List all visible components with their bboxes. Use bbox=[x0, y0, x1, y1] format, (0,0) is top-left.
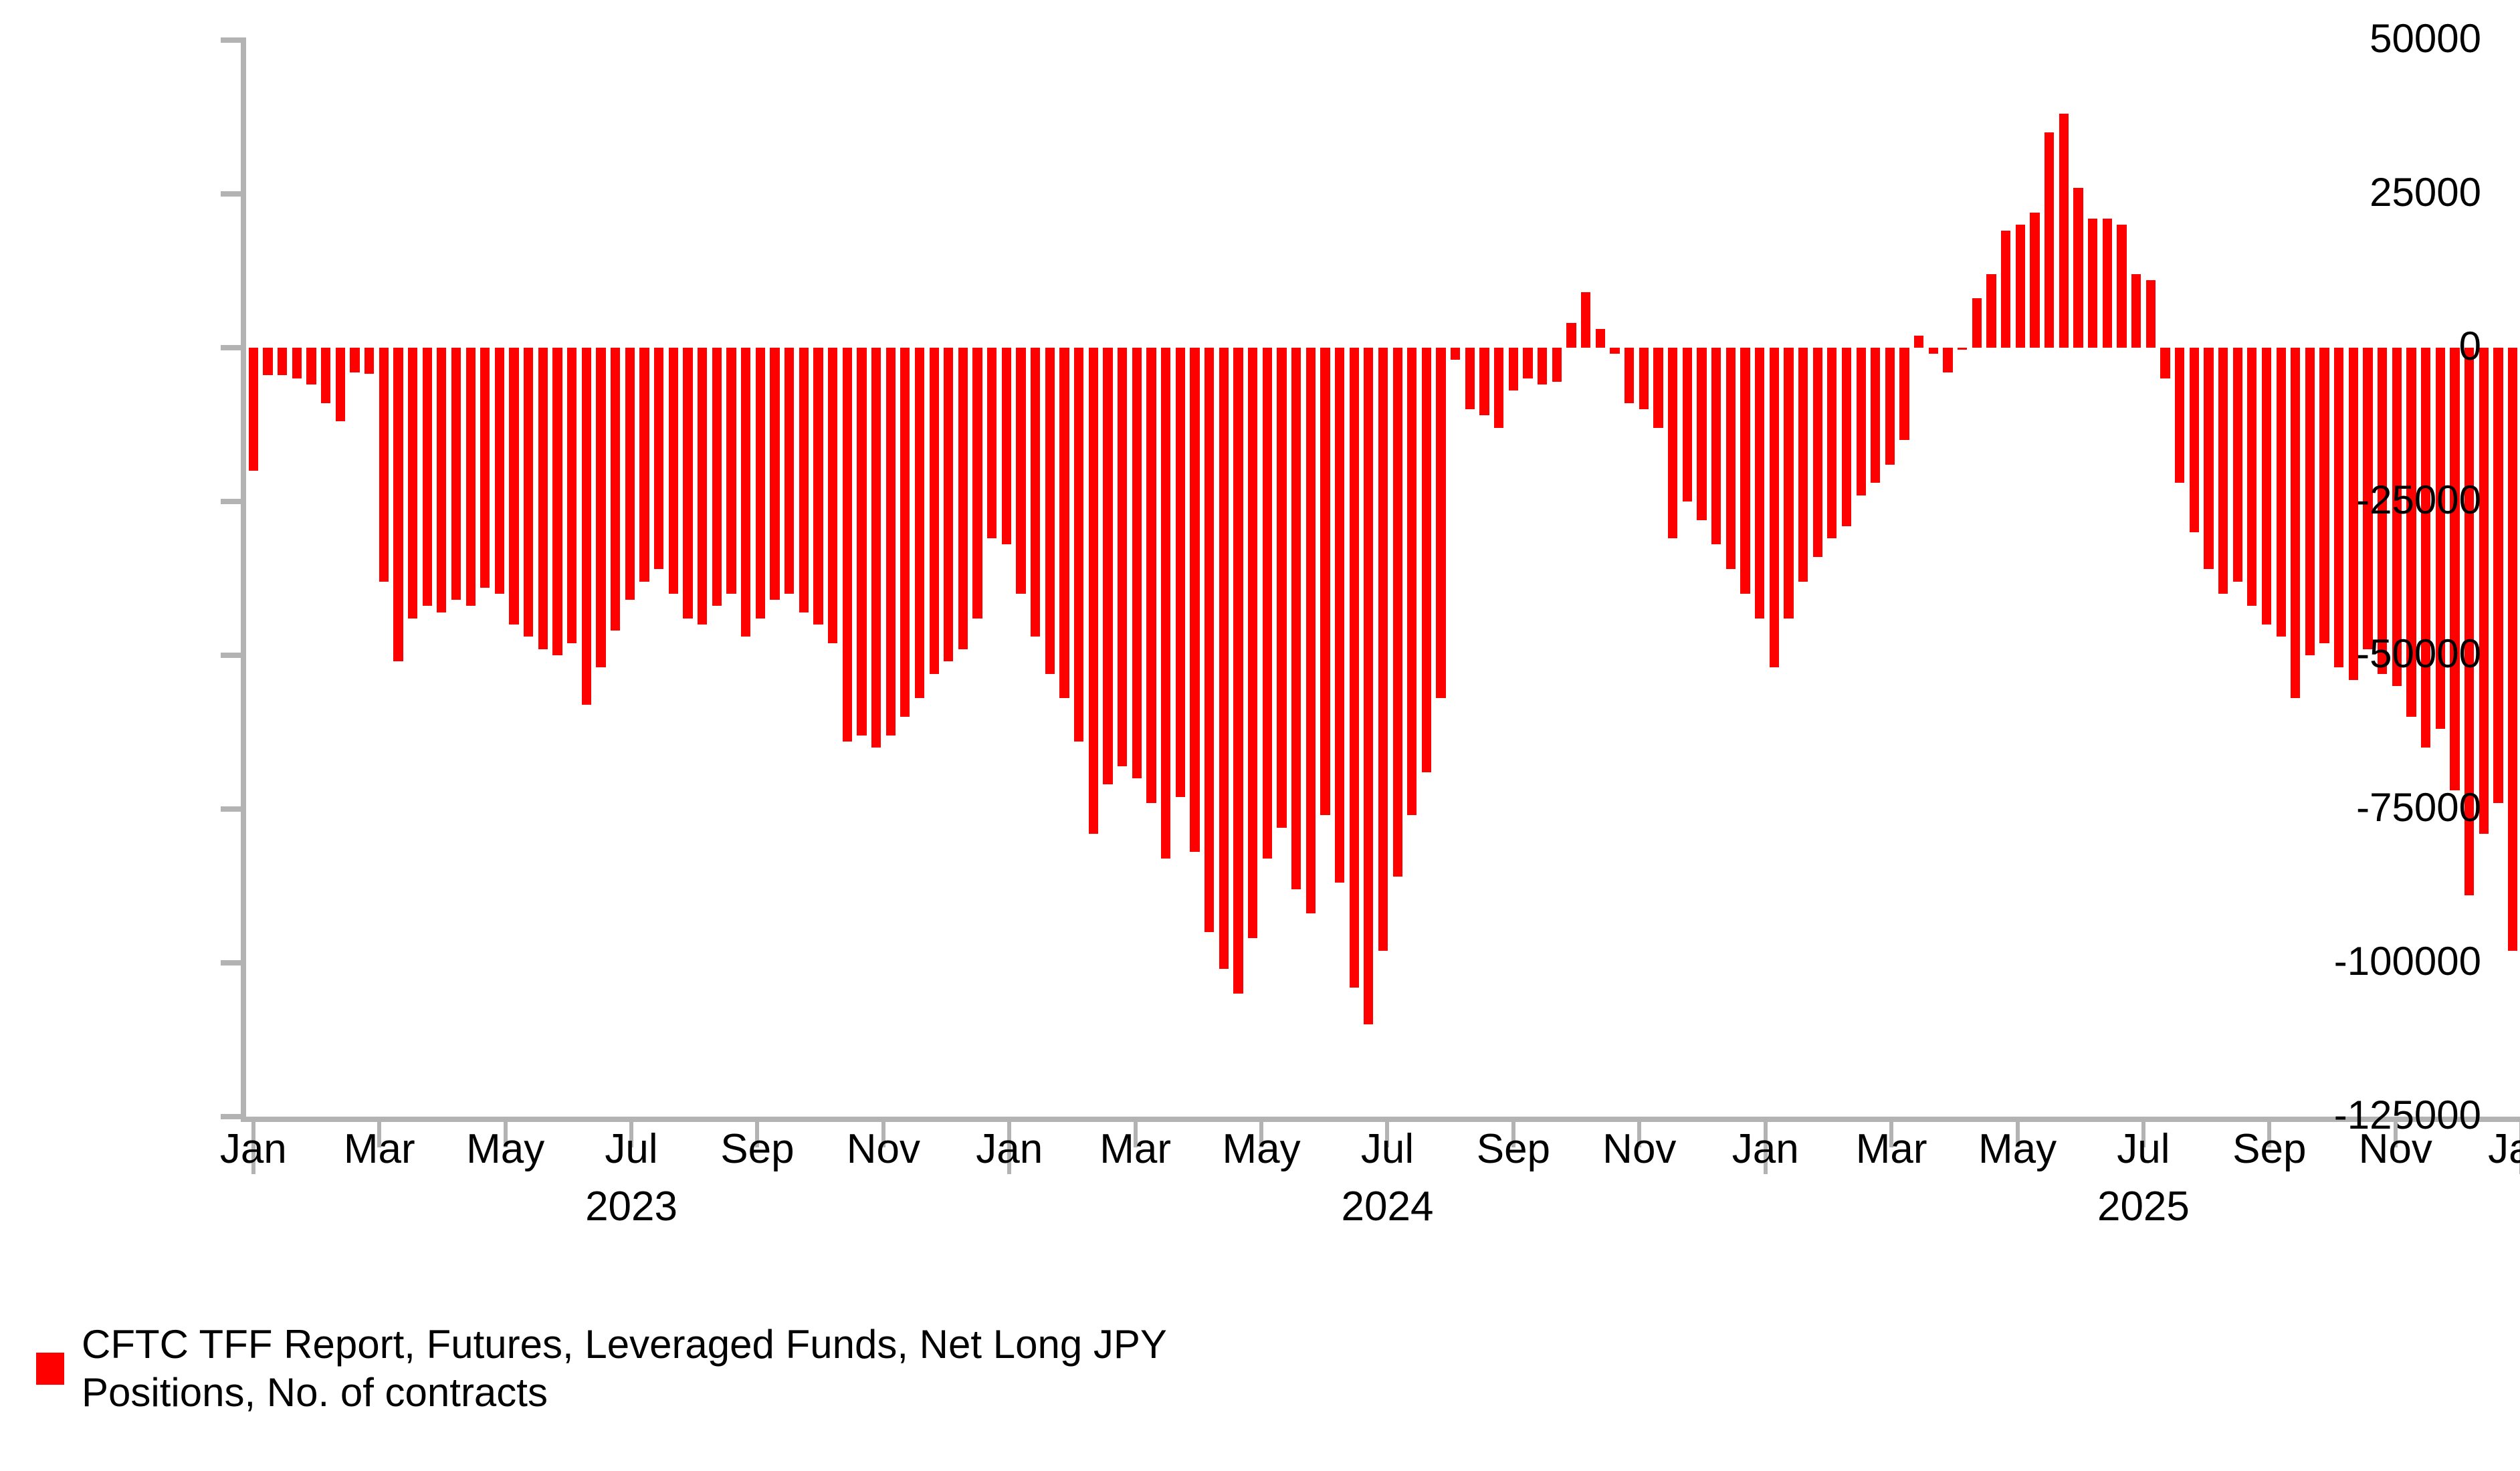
bar bbox=[1871, 348, 1880, 483]
y-axis-tick-label: 50000 bbox=[2370, 19, 2481, 59]
bar bbox=[1740, 348, 1750, 594]
y-axis-tick bbox=[221, 345, 246, 350]
bar bbox=[756, 348, 765, 618]
bar bbox=[538, 348, 548, 649]
bar bbox=[2493, 348, 2503, 803]
bar bbox=[509, 348, 518, 625]
bar bbox=[1248, 348, 1257, 938]
bar bbox=[1581, 292, 1590, 348]
bar bbox=[1653, 348, 1663, 428]
bar bbox=[1190, 348, 1199, 852]
bar bbox=[1972, 298, 1982, 348]
bar bbox=[2160, 348, 2170, 378]
bar bbox=[1176, 348, 1185, 797]
bar bbox=[1451, 348, 1460, 360]
x-axis-tick-label: Sep bbox=[720, 1127, 794, 1171]
bar bbox=[495, 348, 504, 594]
bar bbox=[437, 348, 446, 612]
bar bbox=[1407, 348, 1416, 815]
bar bbox=[249, 348, 258, 471]
bar bbox=[1465, 348, 1475, 409]
bar bbox=[552, 348, 562, 655]
bar bbox=[1118, 348, 1127, 766]
legend: CFTC TFF Report, Futures, Leveraged Fund… bbox=[36, 1321, 1167, 1417]
y-axis-tick bbox=[221, 806, 246, 812]
bar bbox=[987, 348, 996, 538]
bar bbox=[567, 348, 576, 643]
bar bbox=[278, 348, 287, 375]
bar bbox=[1263, 348, 1272, 859]
x-axis-tick-label: Nov bbox=[847, 1127, 920, 1171]
bar bbox=[350, 348, 359, 372]
bar bbox=[480, 348, 490, 588]
bar bbox=[2190, 348, 2199, 532]
bar bbox=[2247, 348, 2256, 606]
bar bbox=[2001, 231, 2010, 348]
bar bbox=[1770, 348, 1779, 667]
bar bbox=[2088, 219, 2097, 348]
legend-color-swatch bbox=[36, 1353, 64, 1385]
y-axis-tick bbox=[221, 1114, 246, 1119]
bar bbox=[423, 348, 432, 606]
bar bbox=[1523, 348, 1532, 378]
bar bbox=[1494, 348, 1503, 428]
bar bbox=[669, 348, 678, 594]
bar bbox=[1552, 348, 1562, 382]
x-axis-year-label: 2024 bbox=[1342, 1185, 1434, 1229]
bar bbox=[321, 348, 330, 403]
bar bbox=[1914, 336, 1923, 348]
x-axis-tick-label: Jan bbox=[976, 1127, 1043, 1171]
bar bbox=[1277, 348, 1286, 828]
bar bbox=[2131, 274, 2141, 348]
bar bbox=[654, 348, 663, 569]
bar bbox=[1306, 348, 1316, 913]
bar bbox=[364, 348, 374, 374]
x-axis-tick-label: Mar bbox=[1099, 1127, 1171, 1171]
plot-area bbox=[246, 40, 2520, 1117]
bar bbox=[1798, 348, 1808, 582]
bar bbox=[1842, 348, 1851, 526]
x-axis-year-label: 2025 bbox=[2097, 1185, 2190, 1229]
y-axis-tick-label: -25000 bbox=[2356, 480, 2481, 520]
bar bbox=[2016, 225, 2025, 348]
bar bbox=[1784, 348, 1793, 618]
bar bbox=[2218, 348, 2228, 594]
bar bbox=[2233, 348, 2242, 582]
bar bbox=[972, 348, 982, 618]
bar bbox=[1016, 348, 1025, 594]
x-axis-tick-label: Mar bbox=[344, 1127, 415, 1171]
bar bbox=[813, 348, 823, 625]
bar bbox=[582, 348, 591, 705]
bar bbox=[2421, 348, 2430, 748]
bar bbox=[2334, 348, 2343, 667]
x-axis-line bbox=[241, 1117, 2520, 1122]
bar bbox=[1610, 348, 1619, 354]
bar bbox=[683, 348, 692, 618]
bar bbox=[2479, 348, 2489, 834]
y-axis-tick-label: -100000 bbox=[2334, 941, 2481, 982]
bar bbox=[1624, 348, 1634, 403]
bar bbox=[524, 348, 533, 637]
bar bbox=[2204, 348, 2213, 569]
bar bbox=[1103, 348, 1112, 784]
bar bbox=[2305, 348, 2315, 655]
x-axis-tick-label: May bbox=[1223, 1127, 1301, 1171]
bar bbox=[2277, 348, 2286, 637]
bar bbox=[1045, 348, 1055, 674]
bar bbox=[1364, 348, 1373, 1024]
bar bbox=[466, 348, 476, 606]
bar bbox=[886, 348, 896, 735]
bar bbox=[306, 348, 316, 384]
x-axis-tick-label: Jan bbox=[1732, 1127, 1799, 1171]
y-axis-tick-label: -50000 bbox=[2356, 634, 2481, 674]
bar bbox=[1639, 348, 1649, 409]
bar bbox=[2030, 213, 2039, 348]
x-axis-year-label: 2023 bbox=[585, 1185, 677, 1229]
bar bbox=[451, 348, 461, 600]
x-axis-tick-label: May bbox=[466, 1127, 544, 1171]
y-axis-tick bbox=[221, 960, 246, 966]
bar bbox=[1986, 274, 1996, 348]
x-axis-tick-label: Nov bbox=[2359, 1127, 2432, 1171]
bar bbox=[1378, 348, 1388, 951]
bar bbox=[1204, 348, 1214, 932]
bar bbox=[1132, 348, 1142, 778]
bar bbox=[1813, 348, 1822, 557]
y-axis-tick bbox=[221, 191, 246, 197]
bar bbox=[784, 348, 794, 594]
bar bbox=[596, 348, 605, 667]
bar bbox=[1885, 348, 1895, 465]
bar bbox=[1857, 348, 1866, 495]
bar bbox=[408, 348, 417, 618]
bar bbox=[1146, 348, 1156, 803]
bar bbox=[1538, 348, 1547, 384]
bar bbox=[2508, 348, 2517, 951]
y-axis-line bbox=[241, 40, 246, 1117]
bar bbox=[1726, 348, 1736, 569]
bar bbox=[1059, 348, 1069, 698]
x-axis-tick-label: May bbox=[1978, 1127, 2057, 1171]
bar bbox=[625, 348, 635, 600]
bar bbox=[1899, 348, 1909, 440]
bar bbox=[1233, 348, 1243, 994]
bar bbox=[857, 348, 866, 735]
bar bbox=[1393, 348, 1402, 877]
bar bbox=[698, 348, 707, 625]
x-axis-tick-label: Sep bbox=[1477, 1127, 1550, 1171]
bar bbox=[871, 348, 881, 748]
bar bbox=[263, 348, 272, 375]
bar bbox=[2044, 132, 2054, 348]
bar bbox=[1089, 348, 1098, 834]
bar bbox=[930, 348, 939, 674]
bar bbox=[1958, 348, 1967, 350]
bar bbox=[1668, 348, 1677, 538]
y-axis-tick bbox=[221, 499, 246, 504]
bar bbox=[1422, 348, 1431, 772]
bar bbox=[741, 348, 750, 637]
bar bbox=[944, 348, 953, 661]
y-axis-tick bbox=[221, 653, 246, 658]
bar bbox=[843, 348, 852, 742]
bar bbox=[2073, 188, 2083, 348]
bar bbox=[1596, 329, 1605, 348]
bar bbox=[2103, 219, 2112, 348]
bar bbox=[1479, 348, 1489, 415]
bar bbox=[1755, 348, 1764, 618]
bar bbox=[2291, 348, 2300, 698]
bar bbox=[1929, 348, 1938, 354]
x-axis-tick-label: Jan bbox=[2488, 1127, 2520, 1171]
bar bbox=[2059, 114, 2069, 348]
bar bbox=[1335, 348, 1344, 883]
x-axis-tick-label: Sep bbox=[2232, 1127, 2306, 1171]
bar bbox=[1697, 348, 1706, 520]
bar bbox=[770, 348, 779, 600]
bar bbox=[1509, 348, 1518, 390]
bar bbox=[828, 348, 837, 643]
bar bbox=[1031, 348, 1040, 637]
bar bbox=[1219, 348, 1229, 969]
bar bbox=[1711, 348, 1721, 544]
bar bbox=[2450, 348, 2459, 790]
x-axis-tick-label: Jul bbox=[605, 1127, 657, 1171]
bar bbox=[2146, 280, 2156, 348]
bar bbox=[292, 348, 302, 378]
bar bbox=[2117, 225, 2126, 348]
y-axis-tick bbox=[221, 37, 246, 43]
bar bbox=[2262, 348, 2271, 625]
bar bbox=[393, 348, 403, 661]
bar bbox=[1002, 348, 1011, 544]
bar bbox=[1161, 348, 1170, 859]
bar bbox=[900, 348, 910, 717]
y-axis-tick-label: 25000 bbox=[2370, 173, 2481, 213]
bar bbox=[611, 348, 620, 631]
bar bbox=[2175, 348, 2184, 483]
x-axis-tick-label: Mar bbox=[1856, 1127, 1927, 1171]
bar bbox=[1436, 348, 1445, 698]
x-axis-tick-label: Nov bbox=[1602, 1127, 1676, 1171]
bar bbox=[726, 348, 736, 594]
bar bbox=[1827, 348, 1836, 538]
bar bbox=[1320, 348, 1330, 815]
bar bbox=[1683, 348, 1692, 501]
x-axis-tick-label: Jul bbox=[1361, 1127, 1414, 1171]
bar bbox=[1350, 348, 1359, 988]
y-axis-tick-label: -75000 bbox=[2356, 788, 2481, 828]
x-axis-tick-label: Jan bbox=[220, 1127, 287, 1171]
bar bbox=[336, 348, 345, 421]
bar bbox=[799, 348, 809, 612]
chart-container: 50000250000-25000-50000-75000-100000-125… bbox=[0, 0, 2520, 1471]
bar bbox=[2319, 348, 2329, 643]
bar bbox=[1566, 323, 1576, 348]
x-axis-tick-label: Jul bbox=[2117, 1127, 2170, 1171]
y-axis-tick-label: 0 bbox=[2459, 326, 2481, 366]
bar bbox=[1291, 348, 1301, 889]
bar bbox=[639, 348, 649, 582]
bar bbox=[1943, 348, 1952, 372]
bar bbox=[712, 348, 722, 606]
bar bbox=[915, 348, 924, 698]
bar bbox=[1074, 348, 1083, 742]
bar bbox=[379, 348, 389, 582]
bar bbox=[958, 348, 968, 649]
legend-label: CFTC TFF Report, Futures, Leveraged Fund… bbox=[82, 1321, 1167, 1417]
